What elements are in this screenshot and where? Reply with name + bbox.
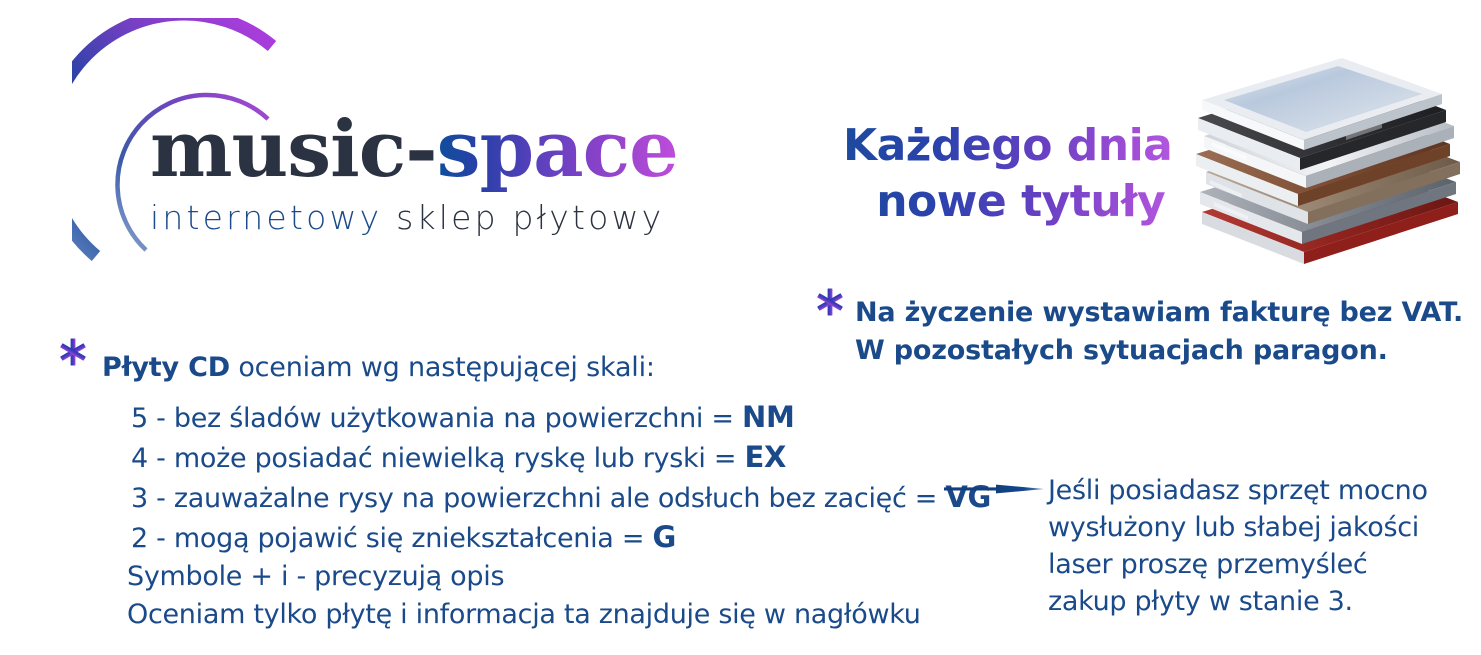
- logo-tagline: internetowy sklep płytowy: [150, 198, 664, 237]
- scale-item-4-text: 4 - może posiadać niewielką ryskę lub ry…: [131, 443, 744, 474]
- scale-item-5-text: 5 - bez śladów użytkowania na powierzchn…: [131, 403, 742, 434]
- scale-item-3: 3 - zauważalne rysy na powierzchni ale o…: [131, 478, 991, 518]
- vat-note-line-1: Na życzenie wystawiam fakturę bez VAT.: [855, 294, 1463, 332]
- scale-item-2-grade: G: [652, 520, 676, 554]
- logo-wordmark: music-space: [150, 111, 678, 189]
- scale-item-5: 5 - bez śladów użytkowania na powierzchn…: [131, 398, 991, 438]
- asterisk-bullet-icon: [815, 287, 845, 317]
- logo-wordmark-accent: space: [437, 104, 678, 195]
- callout-line-2: wysłużony lub słabej jakości: [1048, 509, 1428, 546]
- scale-item-4-grade: EX: [744, 440, 786, 474]
- scale-heading-bold: Płyty CD: [102, 352, 230, 383]
- callout-line-1: Jeśli posiadasz sprzęt mocno: [1048, 472, 1428, 509]
- callout-line-3: laser proszę przemyśleć: [1048, 546, 1428, 583]
- vat-note-line-2: W pozostałych sytuacjach paragon.: [855, 332, 1463, 370]
- scale-heading: Płyty CD oceniam wg następującej skali:: [102, 352, 655, 383]
- logo-tagline-dark: sklep płytowy: [396, 198, 664, 237]
- vat-note: Na życzenie wystawiam fakturę bez VAT. W…: [855, 294, 1463, 371]
- slogan-line-1: Każdego dnia: [843, 118, 1172, 174]
- callout-note: Jeśli posiadasz sprzęt mocno wysłużony l…: [1048, 472, 1428, 620]
- scale-footnote-1: Symbole + i - precyzują opis: [127, 558, 991, 596]
- scale-list: 5 - bez śladów użytkowania na powierzchn…: [131, 398, 991, 634]
- logo-wordmark-dark: music-: [150, 104, 437, 195]
- cd-stack-photo: [1186, 52, 1462, 274]
- logo-tagline-blue: internetowy: [150, 198, 382, 237]
- asterisk-bullet-icon: [58, 337, 88, 367]
- slogan-line-2: nowe tytuły: [843, 174, 1172, 230]
- scale-heading-rest: oceniam wg następującej skali:: [230, 352, 655, 383]
- scale-item-5-grade: NM: [742, 400, 795, 434]
- scale-footnote-2: Oceniam tylko płytę i informacja ta znaj…: [127, 596, 991, 634]
- callout-line-4: zakup płyty w stanie 3.: [1048, 583, 1428, 620]
- scale-item-4: 4 - może posiadać niewielką ryskę lub ry…: [131, 438, 991, 478]
- right-arrow-icon: [944, 479, 1044, 499]
- poster-canvas: music-space internetowy sklep płytowy Ka…: [0, 0, 1481, 655]
- scale-item-2-text: 2 - mogą pojawić się zniekształcenia =: [131, 523, 652, 554]
- slogan: Każdego dnia nowe tytuły: [843, 118, 1172, 231]
- scale-item-2: 2 - mogą pojawić się zniekształcenia = G: [131, 518, 991, 558]
- scale-item-3-text: 3 - zauważalne rysy na powierzchni ale o…: [131, 483, 945, 514]
- brand-logo[interactable]: music-space internetowy sklep płytowy: [72, 18, 772, 268]
